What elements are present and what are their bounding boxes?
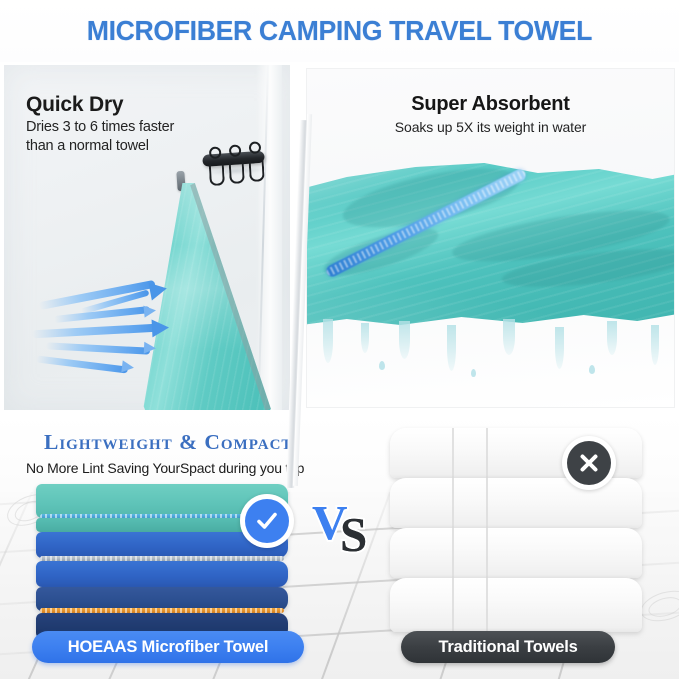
compare-subtitle: No More Lint Saving YourSpact during you… (26, 460, 304, 476)
quick-dry-subtitle-line1: Dries 3 to 6 times faster (26, 118, 174, 137)
super-absorbent-subtitle: Soaks up 5X its weight in water (307, 119, 674, 135)
water-drip (361, 323, 369, 353)
versus-s-fill: S (340, 510, 367, 559)
versus-badge: V V S S (312, 498, 392, 562)
water-drip (503, 319, 515, 355)
list-item (390, 478, 642, 528)
list-item (36, 561, 288, 587)
list-item (390, 578, 642, 632)
water-droplet (379, 361, 385, 370)
check-icon (240, 494, 294, 548)
wall-hook-rack-icon (185, 135, 274, 201)
water-drip (447, 325, 456, 371)
quick-dry-heading: Quick Dry (26, 93, 123, 117)
product-infographic: MICROFIBER CAMPING TRAVEL TOWEL Quick Dr… (0, 0, 679, 679)
water-droplet (471, 369, 476, 377)
quick-dry-subtitle-line2: than a normal towel (26, 137, 174, 156)
water-drip (607, 321, 617, 355)
airflow-arrows-icon (32, 283, 212, 393)
check-glyph (254, 508, 280, 534)
check-icon-inner (245, 499, 289, 543)
close-icon (562, 436, 616, 490)
water-drip (399, 321, 410, 359)
quick-dry-panel: Quick Dry Dries 3 to 6 times faster than… (4, 65, 290, 410)
rack-hook (209, 163, 225, 186)
water-drip (323, 319, 333, 363)
close-glyph (577, 451, 601, 475)
traditional-towels-label: Traditional Towels (401, 631, 615, 663)
top-feature-row: Quick Dry Dries 3 to 6 times faster than… (0, 62, 679, 414)
super-absorbent-heading: Super Absorbent (307, 93, 674, 116)
water-drip (651, 325, 659, 365)
page-title: MICROFIBER CAMPING TRAVEL TOWEL (87, 15, 592, 47)
rack-hook (249, 159, 265, 182)
water-drip (555, 327, 564, 369)
header-banner: MICROFIBER CAMPING TRAVEL TOWEL (0, 0, 679, 62)
close-icon-inner (567, 441, 611, 485)
super-absorbent-panel: Super Absorbent Soaks up 5X its weight i… (306, 68, 675, 408)
list-item (390, 528, 642, 578)
microfiber-towel-label: HOEAAS Microfiber Towel (32, 631, 304, 663)
rack-hook (229, 161, 245, 184)
compare-heading: Lightweight & Compact (44, 430, 292, 455)
water-droplet (589, 365, 595, 374)
quick-dry-subtitle: Dries 3 to 6 times faster than a normal … (26, 118, 174, 156)
